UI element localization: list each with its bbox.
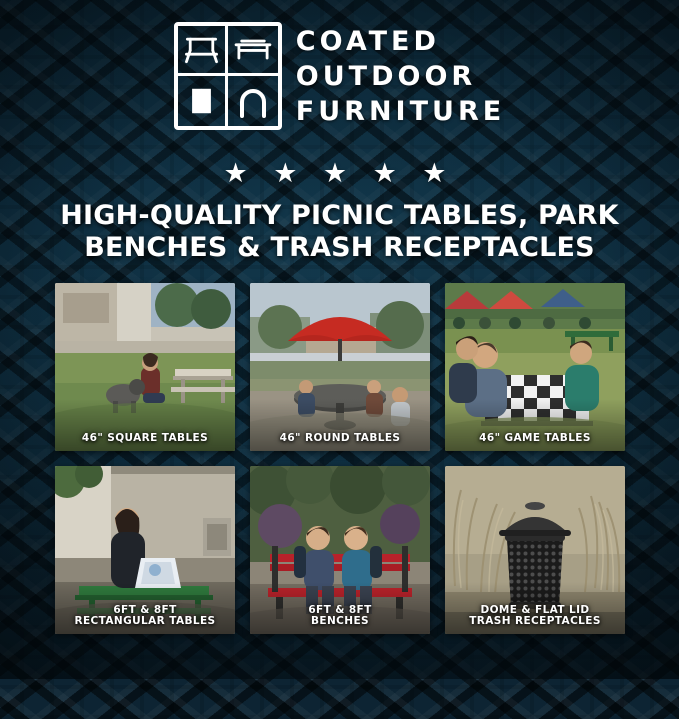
gallery-item-benches[interactable]: 6FT & 8FT BENCHES bbox=[250, 466, 430, 634]
gallery-caption: 6FT & 8FT RECTANGULAR TABLES bbox=[55, 605, 235, 629]
gallery-item-game-tables[interactable]: 46" GAME TABLES bbox=[445, 283, 625, 451]
gallery-caption: DOME & FLAT LID TRASH RECEPTACLES bbox=[445, 605, 625, 629]
gallery-caption: 46" ROUND TABLES bbox=[250, 433, 430, 445]
brand-name-line-1: COATED bbox=[296, 26, 505, 57]
page-title: HIGH-QUALITY PICNIC TABLES, PARK BENCHES… bbox=[34, 200, 645, 264]
brand-logo: COATED OUTDOOR FURNITURE bbox=[0, 22, 679, 130]
product-gallery: 46" SQUARE TABLES bbox=[55, 283, 625, 634]
gallery-caption: 46" SQUARE TABLES bbox=[55, 433, 235, 445]
headline-line-1: HIGH-QUALITY PICNIC TABLES, PARK bbox=[34, 200, 645, 232]
headline-line-2: BENCHES & TRASH RECEPTACLES bbox=[34, 232, 645, 264]
gallery-item-square-tables[interactable]: 46" SQUARE TABLES bbox=[55, 283, 235, 451]
brand-name-line-3: FURNITURE bbox=[296, 96, 505, 127]
park-bench-icon bbox=[228, 26, 278, 76]
gallery-item-round-tables[interactable]: 46" ROUND TABLES bbox=[250, 283, 430, 451]
logo-mark-icon bbox=[174, 22, 282, 130]
gallery-caption: 6FT & 8FT BENCHES bbox=[250, 605, 430, 629]
gallery-item-trash-receptacles[interactable]: DOME & FLAT LID TRASH RECEPTACLES bbox=[445, 466, 625, 634]
brand-wordmark: COATED OUTDOOR FURNITURE bbox=[296, 22, 505, 127]
picnic-table-end-view-icon bbox=[178, 26, 228, 76]
gallery-item-rectangular-tables[interactable]: 6FT & 8FT RECTANGULAR TABLES bbox=[55, 466, 235, 634]
trash-receptacle-icon bbox=[178, 76, 228, 126]
star-rating: ★ ★ ★ ★ ★ bbox=[0, 158, 679, 189]
arched-frame-icon bbox=[228, 76, 278, 126]
gallery-caption: 46" GAME TABLES bbox=[445, 433, 625, 445]
brand-name-line-2: OUTDOOR bbox=[296, 61, 505, 92]
